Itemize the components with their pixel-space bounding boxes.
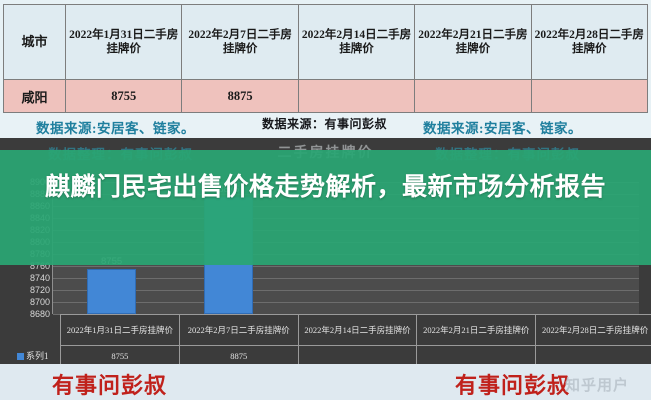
top-price-table-section: 城市 2022年1月31日二手房挂牌价 2022年2月7日二手房挂牌价 2022… (0, 0, 651, 113)
screenshot-root: 城市 2022年1月31日二手房挂牌价 2022年2月7日二手房挂牌价 2022… (0, 0, 651, 400)
y-axis-tick-label: 8840 (4, 213, 50, 223)
data-table-category-1: 2022年1月31日二手房挂牌价 (61, 315, 180, 346)
price-table-header: 城市 2022年1月31日二手房挂牌价 2022年2月7日二手房挂牌价 2022… (4, 5, 648, 80)
chart-data-category-row: 2022年1月31日二手房挂牌价2022年2月7日二手房挂牌价2022年2月14… (14, 315, 651, 346)
bar-value-label-1: 8755 (87, 256, 136, 267)
chart-data-table: 2022年1月31日二手房挂牌价2022年2月7日二手房挂牌价2022年2月14… (14, 314, 651, 364)
y-axis-tick-label: 8800 (4, 237, 50, 247)
gridline (53, 194, 639, 195)
watermark-platform: 知乎用户 (565, 374, 629, 395)
column-header-2022-02-14: 2022年2月14日二手房挂牌价 (298, 5, 414, 80)
price-table-body: 咸阳 8755 8875 (4, 80, 648, 113)
cell-price-2022-02-28 (531, 80, 647, 113)
legend-series-1: 系列1 (14, 346, 61, 365)
y-axis-tick-label: 8720 (4, 285, 50, 295)
data-table-value-1: 8755 (61, 346, 180, 365)
chart-data-value-row: 系列1 87558875 (14, 346, 651, 365)
y-axis-tick-label: 8880 (4, 189, 50, 199)
watermark-author-right: 有事问彭叔 (455, 368, 570, 400)
bar-value-label-2: 8875 (204, 184, 253, 195)
bar-1 (87, 269, 136, 314)
column-header-2022-02-21: 2022年2月21日二手房挂牌价 (415, 5, 531, 80)
watermark-source-center: 数据来源：有事问彭叔 (262, 115, 387, 132)
data-table-category-3: 2022年2月14日二手房挂牌价 (298, 315, 417, 346)
cell-price-2022-02-14 (298, 80, 414, 113)
cell-price-2022-02-21 (415, 80, 531, 113)
gridline (53, 218, 639, 219)
gridline (53, 302, 639, 303)
plot-area: 87558875 (52, 182, 639, 314)
watermark-author-left: 有事问彭叔 (52, 368, 167, 400)
chart-title: 二手房挂牌价 (0, 142, 651, 162)
price-table: 城市 2022年1月31日二手房挂牌价 2022年2月7日二手房挂牌价 2022… (3, 4, 648, 113)
data-table-corner (14, 315, 61, 346)
y-axis-tick-label: 8760 (4, 261, 50, 271)
column-header-2022-01-31: 2022年1月31日二手房挂牌价 (66, 5, 182, 80)
y-axis-tick-label: 8780 (4, 249, 50, 259)
data-table-category-2: 2022年2月7日二手房挂牌价 (179, 315, 298, 346)
gridline (53, 290, 639, 291)
column-header-city: 城市 (4, 5, 66, 80)
gridline (53, 278, 639, 279)
table-row: 咸阳 8755 8875 (4, 80, 648, 113)
bar-2 (204, 197, 253, 314)
data-table-category-4: 2022年2月21日二手房挂牌价 (417, 315, 536, 346)
cell-price-2022-02-07: 8875 (182, 80, 298, 113)
data-table-value-2: 8875 (179, 346, 298, 365)
gridline (53, 230, 639, 231)
gridline (53, 242, 639, 243)
watermark-source-right: 数据来源:安居客、链家。 (423, 117, 582, 137)
watermark-source-left: 数据来源:安居客、链家。 (36, 117, 195, 137)
data-table-value-3 (298, 346, 417, 365)
chart-data-table-body: 2022年1月31日二手房挂牌价2022年2月7日二手房挂牌价2022年2月14… (14, 315, 651, 365)
cell-price-2022-01-31: 8755 (66, 80, 182, 113)
gridline (53, 254, 639, 255)
data-table-value-4 (417, 346, 536, 365)
bar-chart: 二手房挂牌价 868087008720874087608780880088208… (0, 138, 651, 364)
gridline (53, 206, 639, 207)
column-header-2022-02-28: 2022年2月28日二手房挂牌价 (531, 5, 647, 80)
y-axis-tick-label: 8740 (4, 273, 50, 283)
data-table-category-5: 2022年2月28日二手房挂牌价 (536, 315, 651, 346)
y-axis-tick-label: 8700 (4, 297, 50, 307)
y-axis-tick-label: 8900 (4, 177, 50, 187)
legend-swatch-icon (17, 353, 24, 360)
legend-label: 系列1 (26, 351, 49, 361)
y-axis-tick-label: 8860 (4, 201, 50, 211)
y-axis-tick-label: 8820 (4, 225, 50, 235)
y-axis: 8680870087208740876087808800882088408860… (0, 182, 50, 314)
column-header-2022-02-07: 2022年2月7日二手房挂牌价 (182, 5, 298, 80)
table-header-row: 城市 2022年1月31日二手房挂牌价 2022年2月7日二手房挂牌价 2022… (4, 5, 648, 80)
data-table-value-5 (536, 346, 651, 365)
gridline (53, 182, 639, 183)
cell-city-name: 咸阳 (4, 80, 66, 113)
gridline (53, 266, 639, 267)
